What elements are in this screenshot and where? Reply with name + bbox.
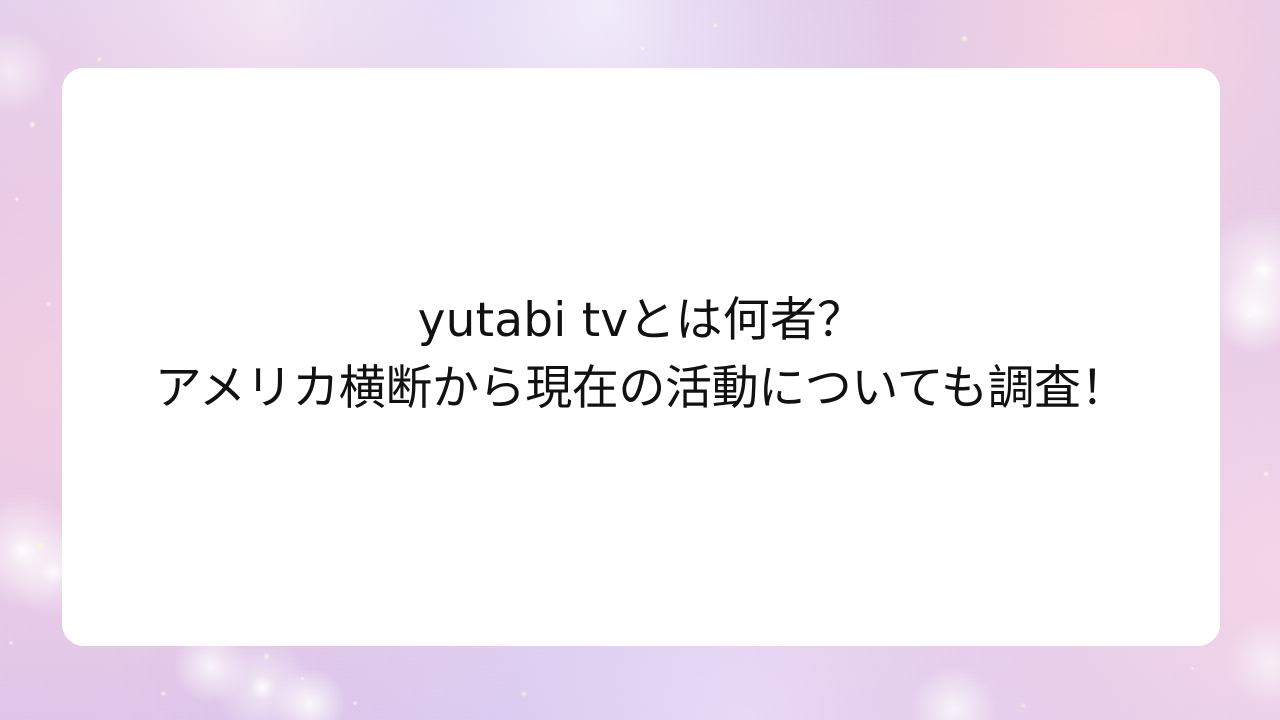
thumbnail-canvas: yutabi tvとは何者？ アメリカ横断から現在の活動についても調査！ [0,0,1280,720]
title-line-2: アメリカ横断から現在の活動についても調査！ [72,355,1210,423]
title-line-1: yutabi tvとは何者？ [72,287,1210,355]
page-title: yutabi tvとは何者？ アメリカ横断から現在の活動についても調査！ [62,287,1220,423]
white-content-card: yutabi tvとは何者？ アメリカ横断から現在の活動についても調査！ [62,68,1220,646]
